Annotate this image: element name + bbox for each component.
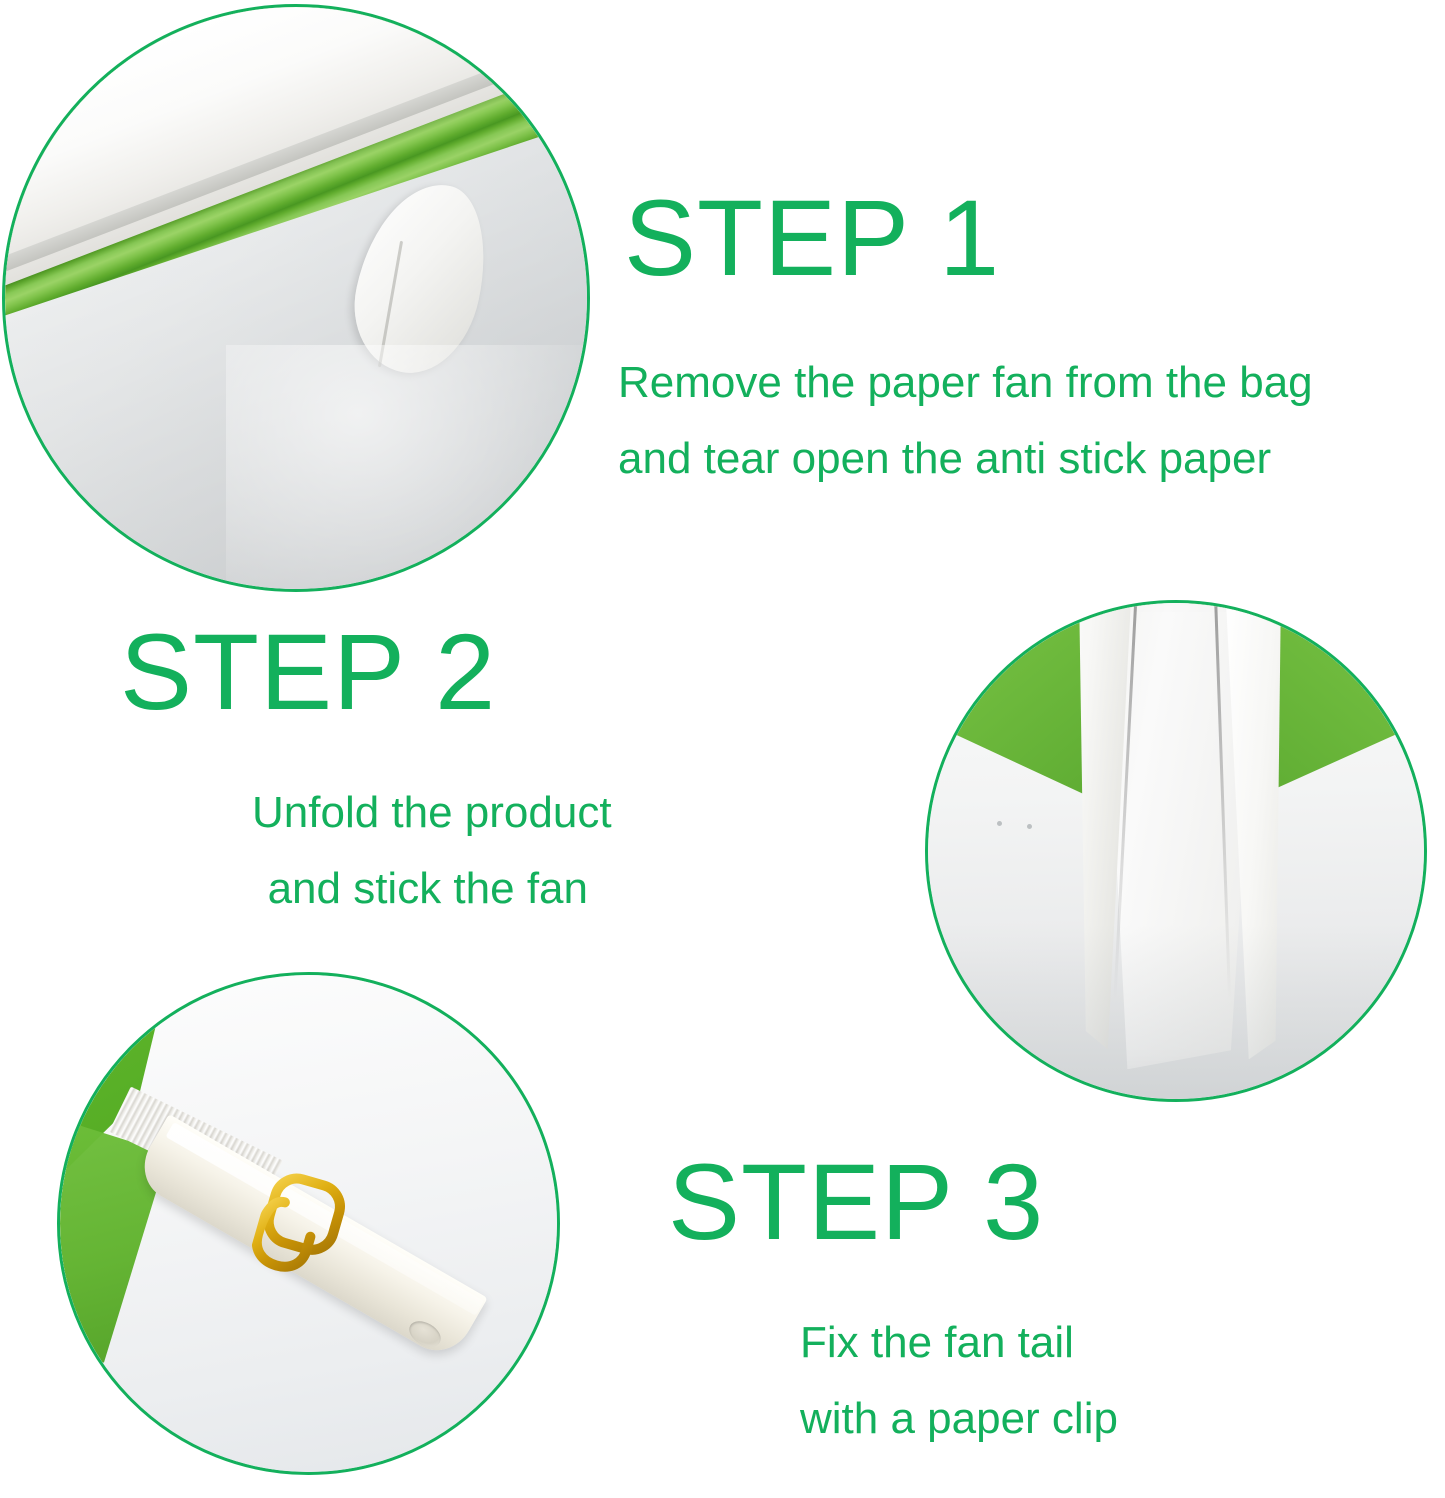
step-3-body: Fix the fan tail with a paper clip — [800, 1305, 1118, 1456]
surface-dot — [1027, 824, 1032, 829]
base-shadow — [928, 925, 1424, 1099]
step-2-photo — [925, 600, 1427, 1102]
step-3-title: STEP 3 — [668, 1148, 1044, 1256]
step-3-photo-inner — [60, 975, 557, 1472]
step-1-body-line-2: and tear open the anti stick paper — [618, 421, 1313, 497]
step-2-body: Unfold the product and stick the fan — [252, 775, 612, 926]
step-2-title: STEP 2 — [120, 618, 496, 726]
step-3-body-line-2: with a paper clip — [800, 1381, 1118, 1457]
step-2-photo-inner — [928, 603, 1424, 1099]
step-2-body-line-2: and stick the fan — [244, 851, 612, 927]
instruction-infographic: STEP 1 Remove the paper fan from the bag… — [0, 0, 1445, 1498]
step-3-body-line-1: Fix the fan tail — [800, 1305, 1118, 1381]
step-1-title: STEP 1 — [624, 184, 1000, 292]
step-1-body: Remove the paper fan from the bag and te… — [618, 345, 1313, 496]
step-1-photo-inner — [5, 7, 587, 589]
step-3-photo — [57, 972, 560, 1475]
step-1-body-line-1: Remove the paper fan from the bag — [618, 345, 1313, 421]
step-2-body-line-1: Unfold the product — [252, 775, 612, 851]
step-1-photo — [2, 4, 590, 592]
